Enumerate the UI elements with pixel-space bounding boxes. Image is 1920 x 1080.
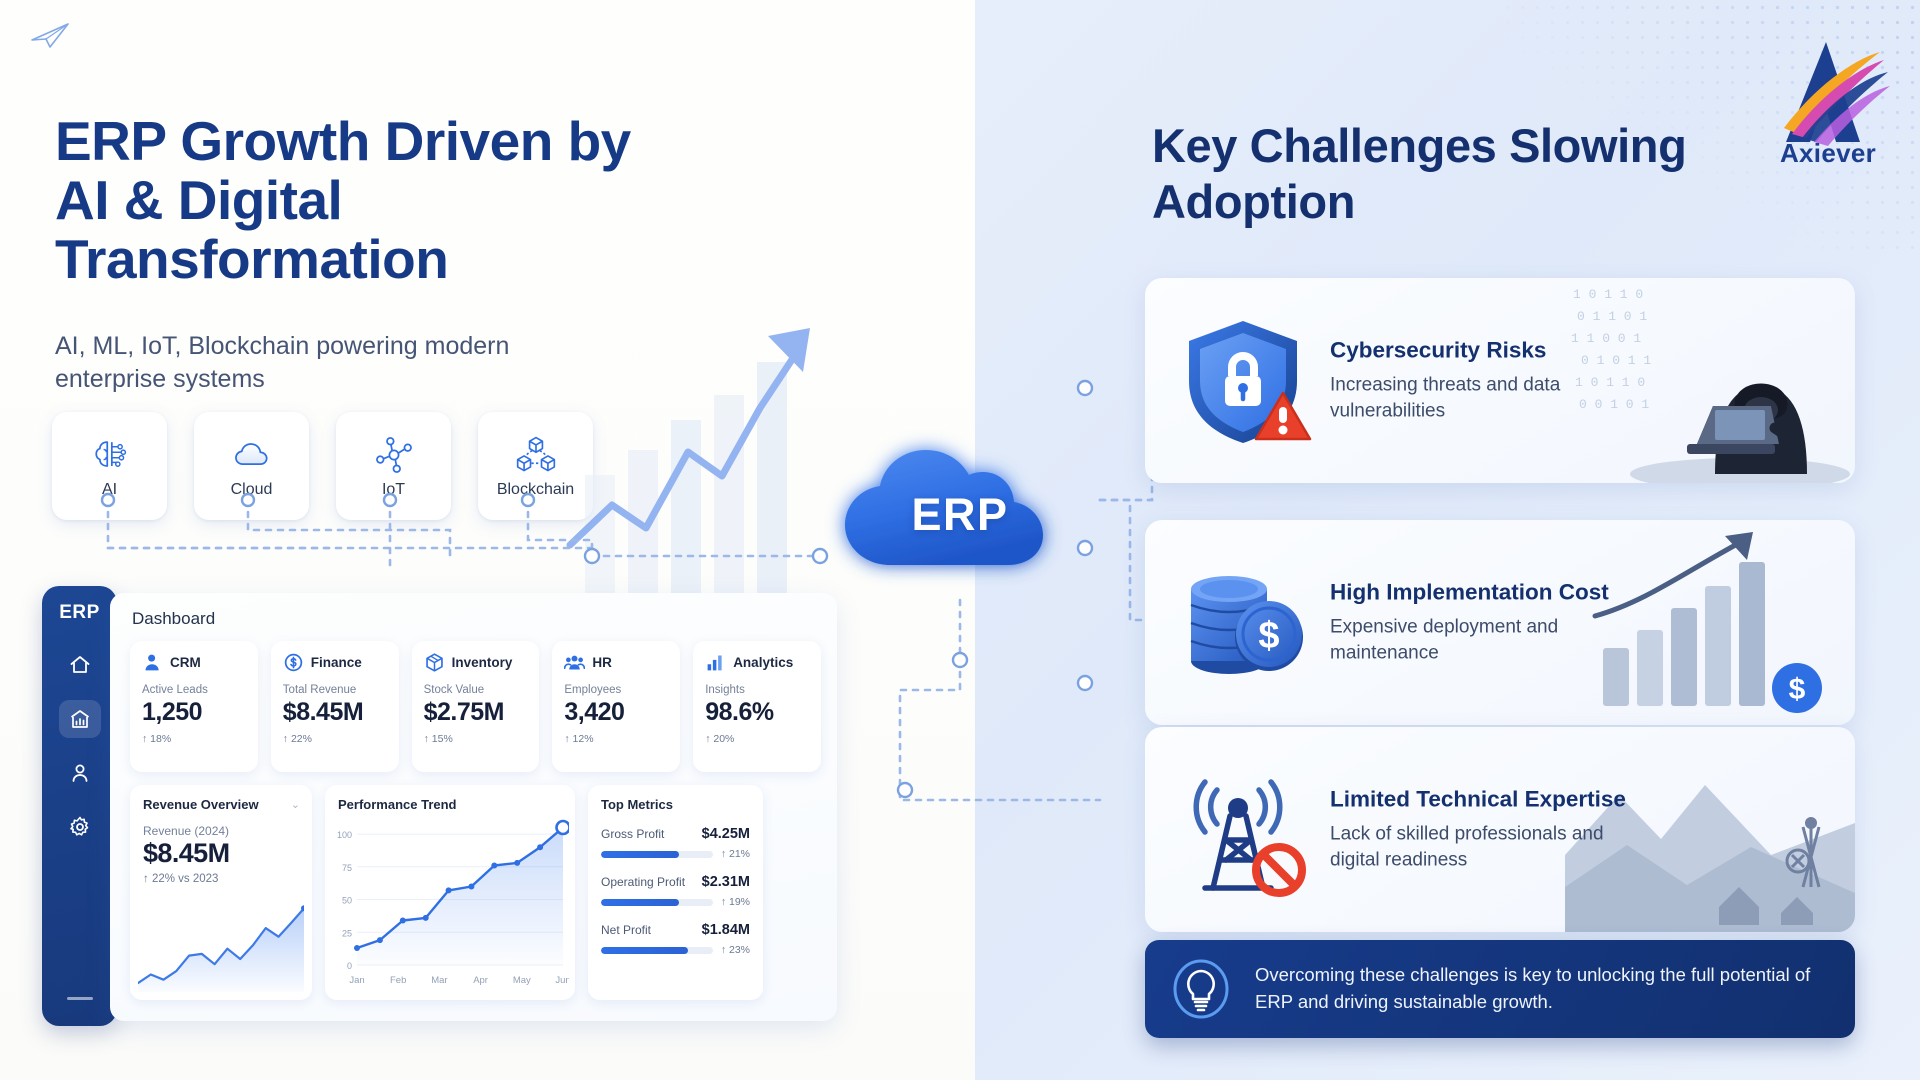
kpi-name: Analytics [733,655,793,670]
cloud-icon [229,433,275,477]
challenge-desc: Increasing threats and data vulnerabilit… [1330,372,1650,424]
tech-pill-iot[interactable]: IoT [336,412,451,520]
axiever-logo-icon [1748,25,1908,155]
right-headline: Key Challenges Slowing Adoption [1152,118,1712,231]
panel-title: Top Metrics [601,797,750,812]
svg-text:Feb: Feb [390,975,406,986]
metric-row: Net Profit $1.84M ↑ 23% [601,922,750,956]
dashboard-panel-row: Revenue Overview ⌄ Revenue (2024) $8.45M… [126,785,821,1000]
metric-progress-track [601,851,713,858]
tech-pill-ai[interactable]: AI [52,412,167,520]
dollar-coin-icon [283,652,304,673]
sidebar-item-users[interactable] [59,754,101,792]
top-metrics-panel[interactable]: Top Metrics Gross Profit $4.25M ↑ 21% [588,785,763,1000]
key-takeaway-banner: Overcoming these challenges is key to un… [1145,940,1855,1038]
erp-dashboard-mock: ERP [42,586,837,1026]
kpi-row: CRM Active Leads 1,250 ↑ 18% Finance Tot [126,641,821,772]
panel-title: Performance Trend [338,797,562,812]
dashboard-main: Dashboard CRM Active Leads 1,250 ↑ 18% [110,593,837,1021]
dashboard-sidebar: ERP [42,586,117,1026]
challenge-title: High Implementation Cost [1330,579,1650,605]
metric-value: $4.25M [702,826,750,842]
bar-chart-icon [68,707,92,731]
metric-name: Operating Profit [601,875,685,889]
kpi-card-finance[interactable]: Finance Total Revenue $8.45M ↑ 22% [271,641,399,772]
tech-pill-label: Cloud [231,481,273,499]
kpi-delta: ↑ 12% [564,733,669,745]
people-group-icon [564,652,585,673]
box-icon [424,652,445,673]
erp-hub-label: ERP [820,400,1100,600]
metric-value: $1.84M [702,922,750,938]
kpi-card-hr[interactable]: HR Employees 3,420 ↑ 12% [552,641,680,772]
metric-row: Operating Profit $2.31M ↑ 19% [601,874,750,908]
svg-text:0 1 1 0 1: 0 1 1 0 1 [1577,309,1647,324]
kpi-label: Total Revenue [283,684,388,696]
sidebar-item-settings[interactable] [59,808,101,846]
svg-text:100: 100 [337,830,352,840]
svg-text:Mar: Mar [431,975,447,986]
challenge-text: Limited Technical Expertise Lack of skil… [1330,786,1650,873]
performance-trend-panel[interactable]: Performance Trend 0255075100JanFebMarApr… [325,785,575,1000]
kpi-name: HR [592,655,612,670]
chevron-down-icon[interactable]: ⌄ [291,798,300,811]
kpi-delta: ↑ 15% [424,733,529,745]
infographic-stage: ERP Growth Driven by AI & Digital Transf… [0,0,1920,1080]
kpi-label: Employees [564,684,669,696]
tech-pill-row: AI Cloud IoT [52,412,593,520]
svg-text:Apr: Apr [473,975,488,986]
metric-progress-fill [601,851,679,858]
coin-stack-dollar-icon: $ [1173,553,1313,693]
svg-text:50: 50 [342,896,352,906]
performance-line-chart: 0255075100JanFebMarAprMayJun [331,813,569,991]
challenge-title: Cybersecurity Risks [1330,337,1650,363]
kpi-name: Finance [311,655,362,670]
panel-title: Revenue Overview [143,797,299,812]
tech-pill-label: IoT [382,481,405,499]
paper-plane-icon [30,20,70,50]
kpi-label: Stock Value [424,684,529,696]
challenge-desc: Expensive deployment and maintenance [1330,614,1650,666]
kpi-label: Insights [705,684,810,696]
left-headline: ERP Growth Driven by AI & Digital Transf… [55,112,675,289]
kpi-card-crm[interactable]: CRM Active Leads 1,250 ↑ 18% [130,641,258,772]
svg-text:1 0 1 1 0: 1 0 1 1 0 [1573,287,1643,302]
kpi-delta: ↑ 20% [705,733,810,745]
metric-progress-fill [601,947,688,954]
kpi-value: 1,250 [142,699,247,727]
svg-text:25: 25 [342,928,352,938]
banner-text: Overcoming these challenges is key to un… [1255,962,1829,1016]
svg-text:0: 0 [347,961,352,971]
svg-text:Jun: Jun [555,975,569,986]
kpi-value: $2.75M [424,699,529,727]
revenue-area-chart [138,900,304,992]
dashboard-title: Dashboard [132,609,821,629]
metric-progress-track [601,899,713,906]
kpi-value: 3,420 [564,699,669,727]
sidebar-divider [67,997,93,1000]
challenge-text: Cybersecurity Risks Increasing threats a… [1330,337,1650,424]
kpi-name: CRM [170,655,201,670]
metric-progress-track [601,947,713,954]
kpi-delta: ↑ 18% [142,733,247,745]
sidebar-item-home[interactable] [59,646,101,684]
metric-row: Gross Profit $4.25M ↑ 21% [601,826,750,860]
kpi-value: 98.6% [705,699,810,727]
kpi-name: Inventory [452,655,513,670]
svg-text:$: $ [1789,673,1806,706]
growth-arrow-chart-decoration [560,300,860,630]
svg-text:75: 75 [342,863,352,873]
tech-pill-label: AI [102,481,117,499]
challenge-card-expertise[interactable]: Limited Technical Expertise Lack of skil… [1145,727,1855,932]
tech-pill-cloud[interactable]: Cloud [194,412,309,520]
revenue-sublabel: Revenue (2024) [143,824,299,838]
revenue-value: $8.45M [143,838,299,869]
challenge-text: High Implementation Cost Expensive deplo… [1330,579,1650,666]
kpi-label: Active Leads [142,684,247,696]
sidebar-item-analytics[interactable] [59,700,101,738]
svg-text:Jan: Jan [349,975,364,986]
user-avatar-icon [142,652,163,673]
kpi-value: $8.45M [283,699,388,727]
kpi-card-inventory[interactable]: Inventory Stock Value $2.75M ↑ 15% [412,641,540,772]
sidebar-brand: ERP [59,602,100,624]
challenge-title: Limited Technical Expertise [1330,786,1650,812]
lightbulb-icon [1171,959,1231,1019]
metric-delta: ↑ 19% [721,896,750,908]
blockchain-cubes-icon [513,433,559,477]
revenue-delta: ↑ 22% vs 2023 [143,873,299,885]
metric-name: Gross Profit [601,827,664,841]
metric-value: $2.31M [702,874,750,890]
kpi-card-analytics[interactable]: Analytics Insights 98.6% ↑ 20% [693,641,821,772]
gear-icon [68,815,92,839]
shield-lock-warning-icon [1173,311,1313,451]
metric-name: Net Profit [601,923,651,937]
metric-delta: ↑ 21% [721,848,750,860]
left-subtitle: AI, ML, IoT, Blockchain powering modern … [55,330,525,396]
user-icon [68,761,92,785]
brain-circuit-icon [87,433,133,477]
metric-progress-fill [601,899,679,906]
challenge-card-cost[interactable]: $ $ High Implementation C [1145,520,1855,725]
logo-wordmark: Axiever [1748,138,1908,169]
revenue-overview-panel[interactable]: Revenue Overview ⌄ Revenue (2024) $8.45M… [130,785,312,1000]
challenge-card-cybersecurity[interactable]: 1 0 1 1 00 1 1 0 1 1 1 0 0 10 1 0 1 1 1 … [1145,278,1855,483]
bar-chart-icon [705,652,726,673]
network-nodes-icon [371,433,417,477]
metric-delta: ↑ 23% [721,944,750,956]
kpi-delta: ↑ 22% [283,733,388,745]
svg-text:May: May [513,975,531,986]
challenge-desc: Lack of skilled professionals and digita… [1330,821,1650,873]
svg-text:$: $ [1258,615,1279,657]
home-icon [68,653,92,677]
antenna-tower-blocked-icon [1173,760,1313,900]
